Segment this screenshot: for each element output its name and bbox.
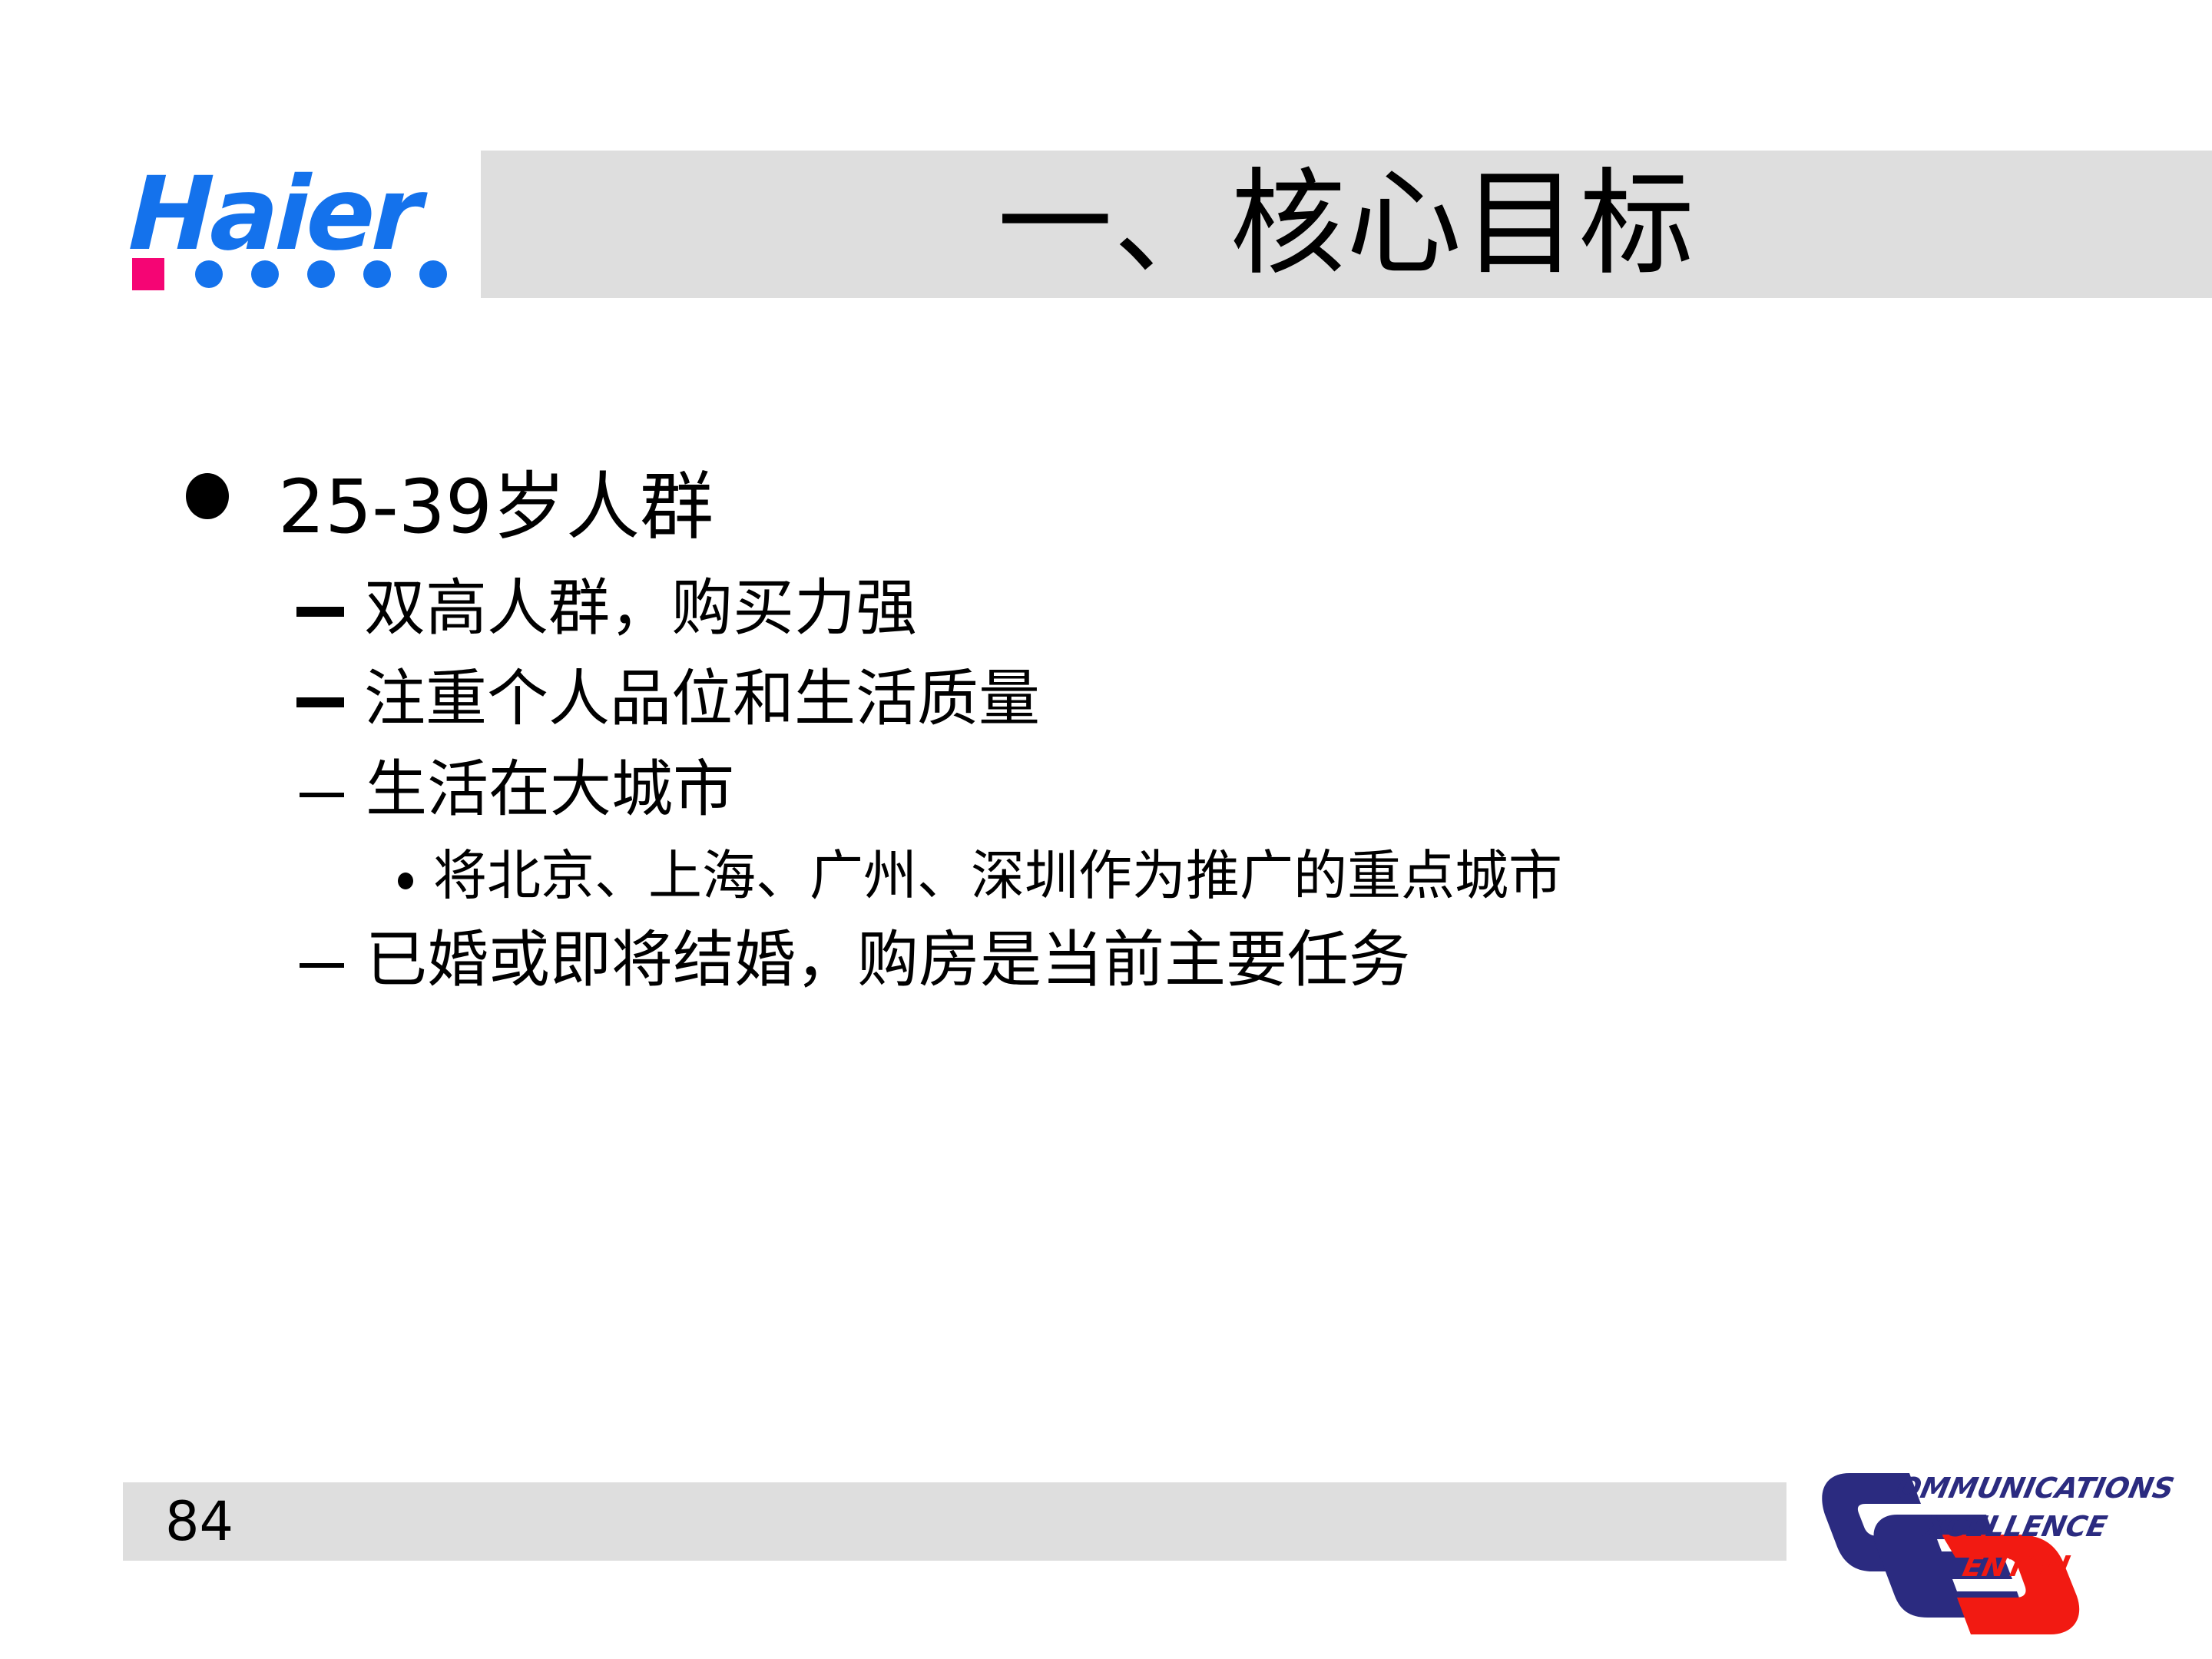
bullet-item-level3: 将北京、上海、广州、深圳作为推广的重点城市 — [0, 840, 2212, 920]
bullet-item-level2: 双高人群，购买力强 — [0, 568, 2212, 659]
haier-logo: Haier — [129, 151, 459, 301]
bullet-text: 将北京、上海、广州、深圳作为推广的重点城市 — [433, 844, 1562, 907]
bullet-text: 已婚或即将结婚，购房是当前主要任务 — [366, 924, 1410, 995]
bullet-text: 双高人群，购买力强 — [364, 572, 917, 644]
haier-dot-icon — [419, 260, 447, 288]
page-number: 84 — [165, 1492, 233, 1551]
bullet-text: 25-39岁人群 — [278, 464, 714, 550]
footer-band — [123, 1482, 1786, 1561]
bullet-text: 生活在大城市 — [366, 753, 734, 825]
haier-magenta-square-icon — [132, 258, 164, 290]
haier-dot-icon — [195, 260, 223, 288]
ced-line1: OMMUNICATIONS — [1893, 1471, 2177, 1505]
ced-line2: XCELLENCE — [1921, 1509, 2111, 1543]
small-round-bullet-icon — [398, 873, 413, 889]
presentation-slide: 一、核心目标 Haier 25-39岁人群 双高人群，购买力强 注重个人品位和生… — [0, 0, 2212, 1659]
slide-body: 25-39岁人群 双高人群，购买力强 注重个人品位和生活质量 生活在大城市 将北… — [0, 461, 2212, 1011]
slide-title: 一、核心目标 — [481, 151, 2212, 298]
haier-dot-icon — [251, 260, 279, 288]
ced-line3: ENTSU — [1960, 1549, 2073, 1583]
bullet-item-level2: 生活在大城市 — [0, 750, 2212, 840]
bullet-item-level2: 已婚或即将结婚，购房是当前主要任务 — [0, 920, 2212, 1011]
haier-wordmark: Haier — [127, 155, 420, 273]
ced-logo-svg: OMMUNICATIONS XCELLENCE ENTSU — [1820, 1444, 2181, 1644]
dash-bullet-icon — [296, 607, 344, 617]
bullet-text: 注重个人品位和生活质量 — [364, 663, 1040, 734]
thin-dash-bullet-icon — [300, 963, 344, 968]
round-bullet-icon — [186, 473, 229, 519]
dash-bullet-icon — [296, 697, 344, 707]
haier-dot-row — [132, 258, 455, 293]
haier-dot-icon — [307, 260, 335, 288]
ced-logo: OMMUNICATIONS XCELLENCE ENTSU — [1820, 1444, 2181, 1644]
bullet-item-level1: 25-39岁人群 — [0, 461, 2212, 568]
thin-dash-bullet-icon — [300, 793, 344, 797]
haier-dot-icon — [363, 260, 391, 288]
bullet-item-level2: 注重个人品位和生活质量 — [0, 659, 2212, 750]
